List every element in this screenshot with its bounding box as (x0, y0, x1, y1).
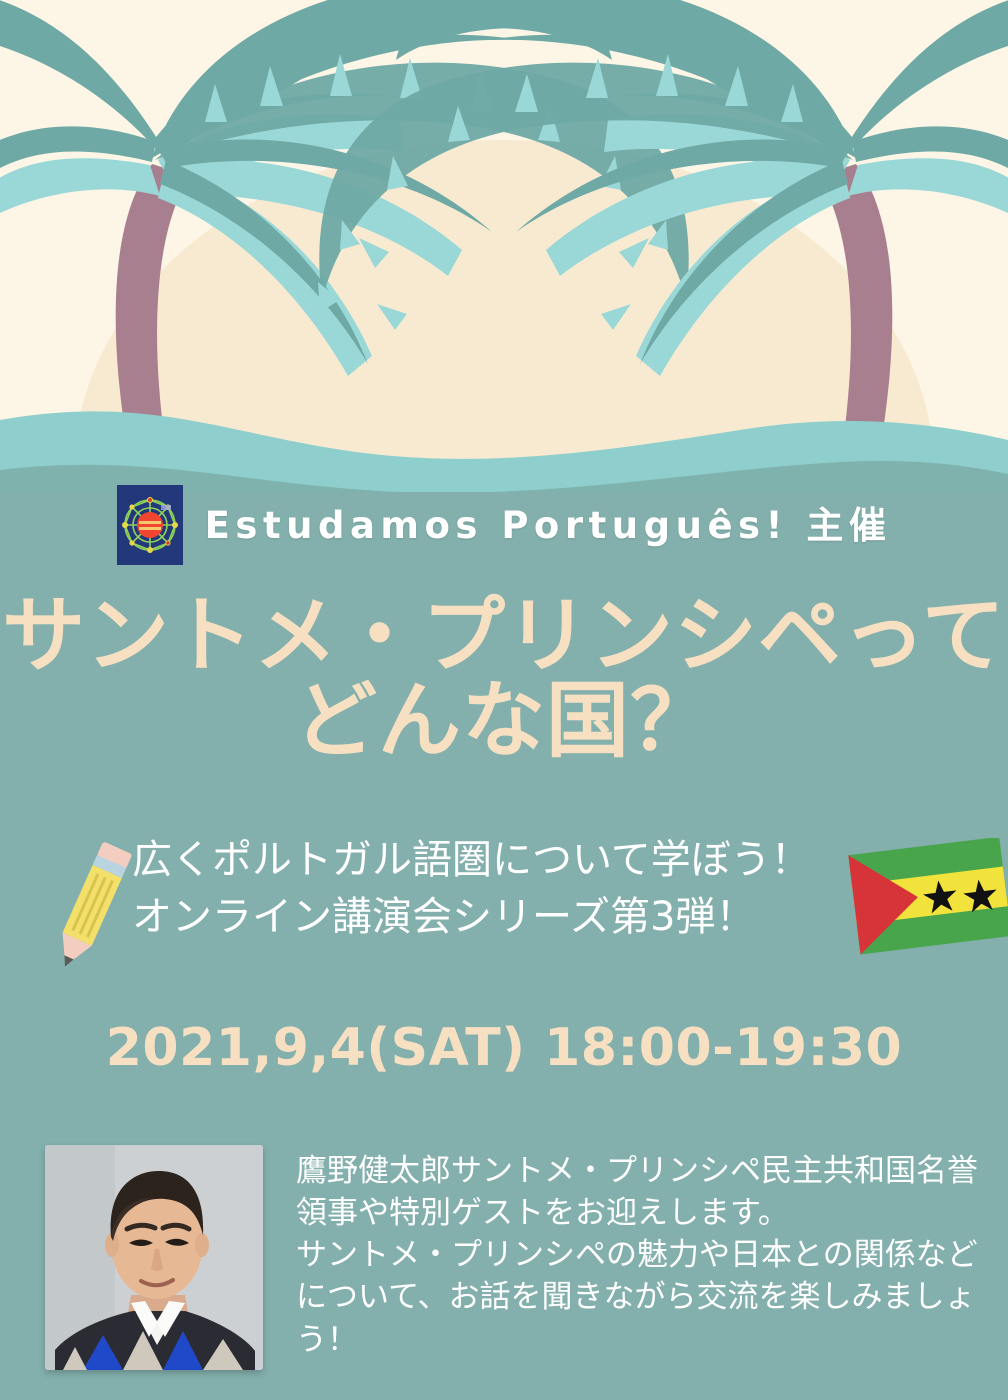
subtitle-text: 広くポルトガル語圏について学ぼう！ オンライン講演会シリーズ第3弾！ (132, 832, 872, 946)
description-line-5: う！ (296, 1319, 996, 1361)
event-datetime: 2021,9,4(SAT) 18:00-19:30 (0, 1018, 1008, 1078)
event-poster: Estudamos Português! 主催 サントメ・プリンシペって どんな… (0, 0, 1008, 1400)
speaker-portrait (45, 1145, 263, 1370)
description-line-1: 鷹野健太郎サントメ・プリンシペ民主共和国名誉 (296, 1150, 996, 1192)
subtitle-line-2: オンライン講演会シリーズ第3弾！ (132, 889, 872, 946)
title-line-1: サントメ・プリンシペって (0, 595, 1008, 676)
sao-tome-and-principe-flag-icon (846, 838, 1008, 956)
organizer-label: Estudamos Português! 主催 (205, 507, 892, 544)
title-line-2: どんな国？ (0, 680, 1008, 761)
speaker-block: 鷹野健太郎サントメ・プリンシペ民主共和国名誉 領事や特別ゲストをお迎えします。 … (0, 1140, 1008, 1390)
description-line-2: 領事や特別ゲストをお迎えします。 (296, 1192, 996, 1234)
organizer-row: Estudamos Português! 主催 (0, 487, 1008, 563)
estudamos-portugues-logo-icon (117, 485, 183, 565)
poster-title: サントメ・プリンシペって どんな国？ (0, 595, 1008, 762)
beach-illustration (0, 0, 1008, 500)
pencil-icon (42, 832, 152, 972)
speaker-description: 鷹野健太郎サントメ・プリンシペ民主共和国名誉 領事や特別ゲストをお迎えします。 … (296, 1150, 996, 1361)
subtitle-line-1: 広くポルトガル語圏について学ぼう！ (132, 832, 872, 889)
description-line-3: サントメ・プリンシペの魅力や日本との関係など (296, 1234, 996, 1276)
description-line-4: について、お話を聞きながら交流を楽しみましょ (296, 1276, 996, 1318)
